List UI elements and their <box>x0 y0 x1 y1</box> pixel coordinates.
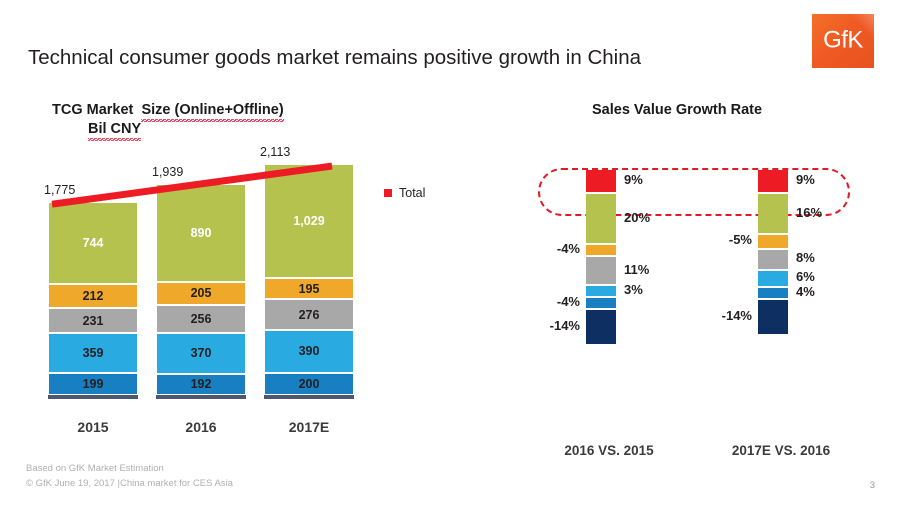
stack-segment-segment-1-2015: 199 <box>48 373 138 395</box>
left-chart-title-part2: Size (Online+Offline) <box>141 101 283 120</box>
left-chart-title: TCG Market Size (Online+Offline) Bil CNY <box>52 101 352 139</box>
column-shadow <box>264 395 354 399</box>
stack-segment-segment-5-2016: 890 <box>156 184 246 282</box>
stack-segment-segment-2-2015: 359 <box>48 333 138 373</box>
stack-segment-segment-3-2015: 231 <box>48 308 138 334</box>
stack-segment-segment-4-2017E: 195 <box>264 278 354 300</box>
stacked-column-2017E: 1,029195276390200 <box>264 164 354 399</box>
sales-value-growth-rate-waterfall-chart: 2016 VS. 2015 9%20%-4%11%3%-4%-14% 2017E… <box>520 160 890 460</box>
stack-segment-segment-4-2015: 212 <box>48 284 138 307</box>
waterfall-value-segment-5-g1: 16% <box>796 205 822 220</box>
gfk-logo: GfK <box>812 14 874 68</box>
total-label-2017E: 2,113 <box>260 145 290 159</box>
waterfall-group-2016-vs-2015: 2016 VS. 2015 9%20%-4%11%3%-4%-14% <box>524 160 694 460</box>
waterfall-value-segment-2-g0: 3% <box>624 282 643 297</box>
stack-segment-segment-2-2017E: 390 <box>264 330 354 373</box>
waterfall-value-segment-0-g0: -14% <box>550 318 580 333</box>
left-chart-title-part3: Bil CNY <box>88 120 141 139</box>
x-axis-label-2016: 2016 <box>156 419 246 435</box>
total-label-2016: 1,939 <box>152 165 183 179</box>
waterfall-value-segment-2-g1: 6% <box>796 269 815 284</box>
waterfall-value-total-g0: 9% <box>624 172 643 187</box>
waterfall-bar-segment-2-g1 <box>758 271 788 286</box>
stack-segment-segment-2-2016: 370 <box>156 333 246 374</box>
right-chart-title: Sales Value Growth Rate <box>592 101 762 120</box>
x-axis-label-2015: 2015 <box>48 419 138 435</box>
waterfall-value-segment-4-g1: -5% <box>729 232 752 247</box>
x-axis-label-2017E-vs-2016: 2017E VS. 2016 <box>696 443 866 458</box>
waterfall-bar-segment-5-g1 <box>758 194 788 233</box>
waterfall-group-2017E-vs-2016: 2017E VS. 2016 9%16%-5%8%6%4%-14% <box>696 160 866 460</box>
column-shadow <box>156 395 246 399</box>
stack-segment-segment-1-2016: 192 <box>156 374 246 395</box>
waterfall-value-segment-4-g0: -4% <box>557 241 580 256</box>
stack-segment-segment-5-2017E: 1,029 <box>264 164 354 278</box>
stack-segment-segment-4-2016: 205 <box>156 282 246 305</box>
x-axis-label-2017E: 2017E <box>264 419 354 435</box>
waterfall-bar-segment-2-g0 <box>586 286 616 296</box>
total-label-2015: 1,775 <box>44 183 75 197</box>
stack-segment-segment-3-2017E: 276 <box>264 299 354 329</box>
page-title: Technical consumer goods market remains … <box>28 46 641 70</box>
waterfall-value-segment-0-g1: -14% <box>722 308 752 323</box>
legend-swatch-total-icon <box>384 189 392 197</box>
waterfall-value-segment-1-g0: -4% <box>557 294 580 309</box>
waterfall-bar-segment-1-g1 <box>758 288 788 298</box>
waterfall-bar-total-g0 <box>586 170 616 192</box>
waterfall-bar-segment-5-g0 <box>586 194 616 243</box>
waterfall-bar-segment-3-g1 <box>758 250 788 270</box>
legend-label-total: Total <box>399 186 425 200</box>
waterfall-bar-segment-1-g0 <box>586 298 616 308</box>
waterfall-value-segment-3-g1: 8% <box>796 250 815 265</box>
footer-copyright-line: © GfK June 19, 2017 |China market for CE… <box>26 476 233 491</box>
footer: Based on GfK Market Estimation © GfK Jun… <box>26 461 233 491</box>
waterfall-bar-segment-0-g1 <box>758 300 788 334</box>
waterfall-bar-segment-0-g0 <box>586 310 616 344</box>
column-shadow <box>48 395 138 399</box>
waterfall-bar-total-g1 <box>758 170 788 192</box>
logo-text: GfK <box>812 26 874 54</box>
waterfall-value-total-g1: 9% <box>796 172 815 187</box>
left-chart-title-part1: TCG Market <box>52 102 133 118</box>
x-axis-label-2016-vs-2015: 2016 VS. 2015 <box>524 443 694 458</box>
stack-segment-segment-5-2015: 744 <box>48 202 138 284</box>
waterfall-value-segment-3-g0: 11% <box>624 262 649 277</box>
page-number: 3 <box>870 480 875 491</box>
chart-legend: Total <box>384 186 425 200</box>
stack-segment-segment-1-2017E: 200 <box>264 373 354 395</box>
stack-segment-segment-3-2016: 256 <box>156 305 246 333</box>
waterfall-bar-segment-4-g0 <box>586 245 616 255</box>
stacked-column-2015: 744212231359199 <box>48 202 138 399</box>
waterfall-value-segment-1-g1: 4% <box>796 284 815 299</box>
stacked-column-2016: 890205256370192 <box>156 184 246 399</box>
waterfall-bar-segment-3-g0 <box>586 257 616 284</box>
waterfall-value-segment-5-g0: 20% <box>624 210 650 225</box>
tcg-market-size-stacked-chart: 1,775 1,939 2,113 744212231359199 890205… <box>40 160 360 445</box>
footer-source-line: Based on GfK Market Estimation <box>26 461 233 476</box>
waterfall-bar-segment-4-g1 <box>758 235 788 247</box>
